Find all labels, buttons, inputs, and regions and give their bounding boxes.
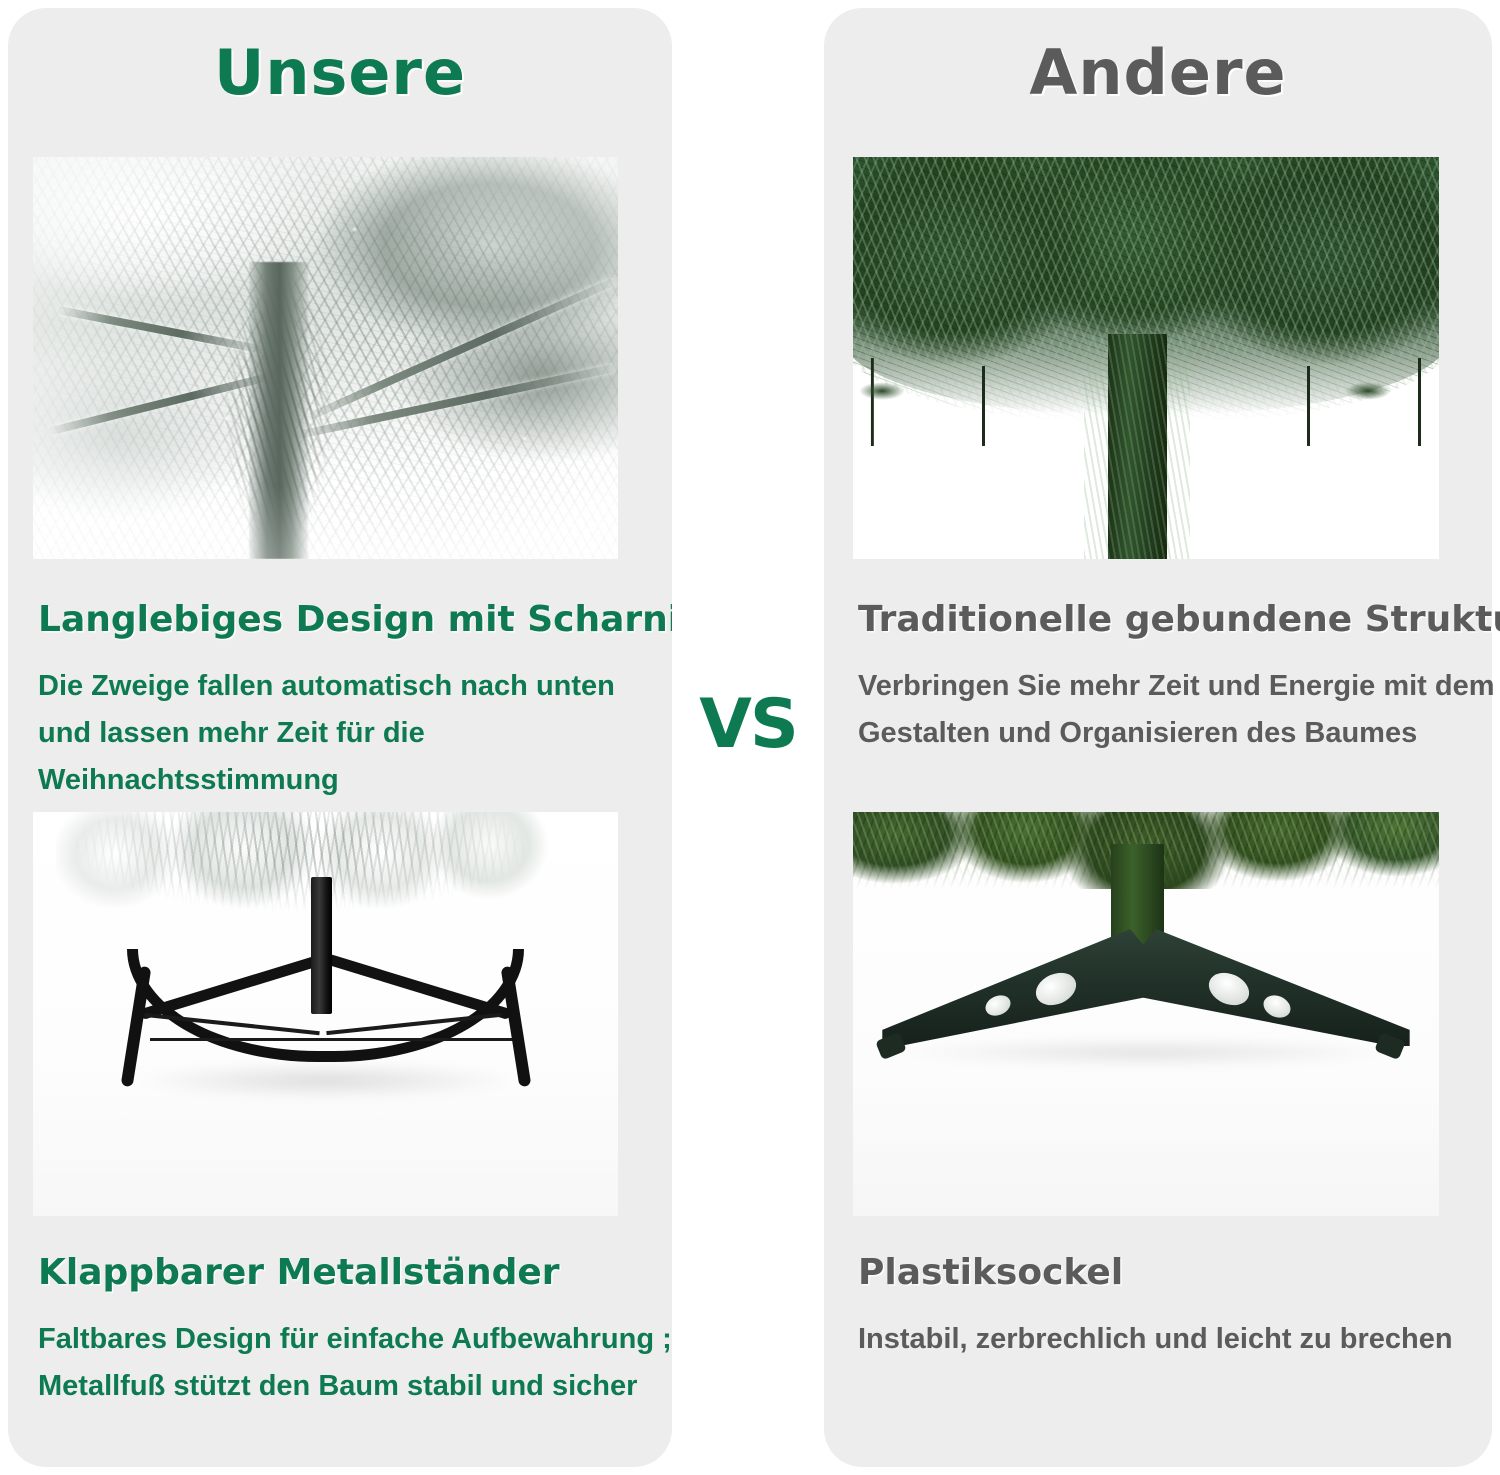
feature-body-hinged-design: Die Zweige fallen automatisch nach unten… xyxy=(38,663,648,804)
base-floor-shadow xyxy=(900,1038,1392,1066)
stand-center-post xyxy=(311,877,332,1014)
photo-metal-folding-stand xyxy=(33,812,618,1216)
stand-floor-shadow xyxy=(138,1062,512,1098)
plastic-base-artwork xyxy=(853,812,1439,1216)
photo-vignette xyxy=(33,157,618,559)
stand-brace-cross xyxy=(150,1038,513,1041)
panel-title-unsere: Unsere xyxy=(8,42,672,104)
feature-body-metal-stand: Faltbares Design für einfache Aufbewahru… xyxy=(38,1316,678,1410)
branch-tip-left xyxy=(859,382,905,400)
tree-center-pole xyxy=(1108,334,1167,559)
frosted-branch-artwork xyxy=(33,157,618,559)
tied-tree-artwork xyxy=(853,157,1439,559)
photo-plastic-base xyxy=(853,812,1439,1216)
vs-divider: VS xyxy=(672,560,824,890)
feature-body-traditional-structure: Verbringen Sie mehr Zeit und Energie mit… xyxy=(858,663,1498,757)
feature-heading-hinged-design: Langlebiges Design mit Scharnieren xyxy=(38,600,772,640)
comparison-infographic: Unsere Andere xyxy=(0,0,1500,1475)
feature-body-plastic-base: Instabil, zerbrechlich und leicht zu bre… xyxy=(858,1316,1498,1363)
vs-label: VS xyxy=(699,691,797,759)
flocked-tree-skirt xyxy=(56,812,547,925)
photo-frosted-hinged-branch xyxy=(33,157,618,559)
feature-heading-plastic-base: Plastiksockel xyxy=(858,1253,1123,1293)
panel-title-andere: Andere xyxy=(824,42,1492,104)
feature-heading-traditional-structure: Traditionelle gebundene Struktur xyxy=(858,600,1500,640)
metal-stand-artwork xyxy=(33,812,618,1216)
photo-tied-green-branches xyxy=(853,157,1439,559)
feature-heading-metal-stand: Klappbarer Metallständer xyxy=(38,1253,560,1293)
